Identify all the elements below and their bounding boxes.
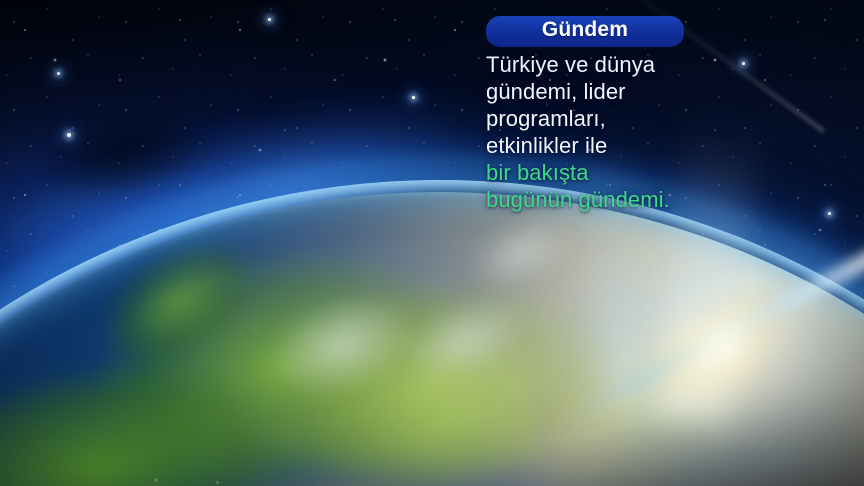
bright-star: [67, 133, 71, 137]
tagline-line-4: etkinlikler ile: [486, 132, 786, 159]
headline-block: Gündem Türkiye ve dünya gündemi, lider p…: [486, 16, 786, 213]
gundem-banner: Gündem Türkiye ve dünya gündemi, lider p…: [0, 0, 864, 486]
tagline-line-3: programları,: [486, 105, 786, 132]
tagline-line-2: gündemi, lider: [486, 78, 786, 105]
tagline-accent-line-1: bir bakışta: [486, 159, 786, 186]
tagline-accent-line-2: bugünün gündemi.: [486, 186, 786, 213]
tagline: Türkiye ve dünya gündemi, lider programl…: [486, 51, 786, 213]
tagline-line-1: Türkiye ve dünya: [486, 51, 786, 78]
bright-star: [57, 72, 60, 75]
bright-star: [268, 18, 271, 21]
gundem-badge: Gündem: [486, 16, 684, 47]
bright-star: [412, 96, 415, 99]
